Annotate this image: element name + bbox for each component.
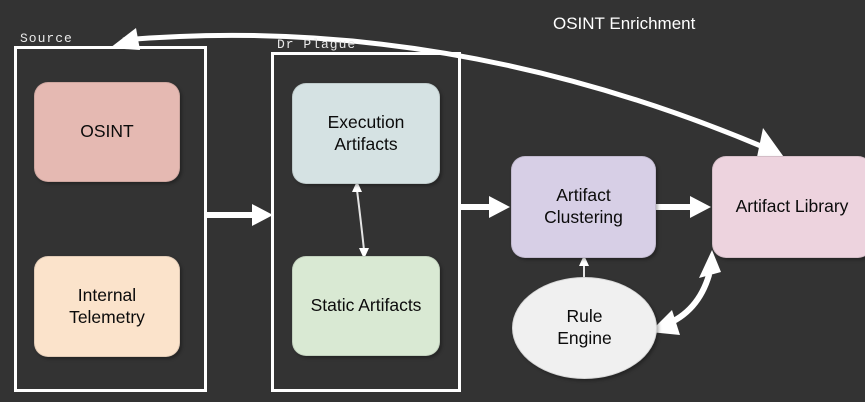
node-rule-engine[interactable]: Rule Engine — [512, 277, 657, 379]
edge-rule-engine-artifact-library-link — [650, 250, 721, 335]
node-osint[interactable]: OSINT — [34, 82, 180, 182]
edge-label-osint-enrichment: OSINT Enrichment — [553, 14, 695, 34]
node-artifact-library[interactable]: Artifact Library — [712, 156, 865, 258]
node-internal-telemetry[interactable]: Internal Telemetry — [34, 256, 180, 357]
group-label-source: Source — [20, 31, 73, 46]
edge-dr-plague-to-artifact-clustering — [461, 196, 510, 218]
edge-source-to-dr-plague — [207, 204, 273, 226]
node-execution-artifacts[interactable]: Execution Artifacts — [292, 83, 440, 184]
node-static-artifacts[interactable]: Static Artifacts — [292, 256, 440, 356]
diagram-canvas: Source Dr Plague OSINT Internal Telemetr… — [0, 0, 865, 402]
edge-artifact-clustering-to-artifact-library — [656, 196, 711, 218]
group-label-dr-plague: Dr Plague — [277, 37, 356, 52]
node-artifact-clustering[interactable]: Artifact Clustering — [511, 156, 656, 258]
